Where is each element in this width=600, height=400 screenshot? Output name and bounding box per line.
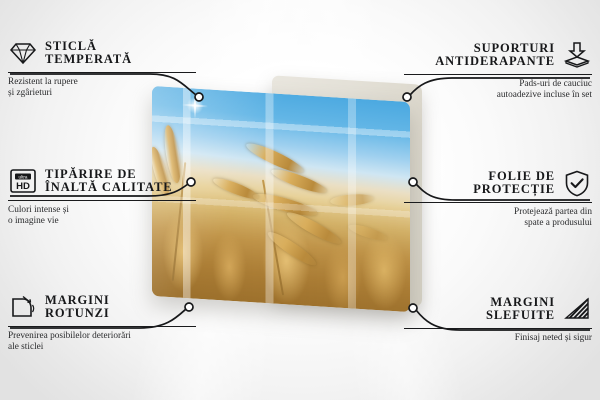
feature-title: SUPORTURI ANTIDERAPANTE [435, 42, 555, 69]
feature-sub-line1: Pads-uri de cauciuc [519, 79, 592, 89]
feature-title-line1: MARGINI [45, 293, 110, 307]
feature-sub-line2: autoadezive incluse în set [497, 90, 592, 100]
feature-subtitle: Protejează partea din spate a produsului [404, 207, 592, 230]
feature-title-line2: PROTECȚIE [473, 182, 555, 196]
feature-title-line2: ANTIDERAPANTE [435, 54, 555, 68]
feature-title: FOLIE DE PROTECȚIE [473, 170, 555, 197]
feature-header: ultra HD TIPĂRIRE DE ÎNALTĂ CALITATE [8, 166, 196, 196]
feature-subtitle: Prevenirea posibilelor deteriorări ale s… [8, 331, 196, 354]
divider-rule [8, 200, 196, 201]
feature-subtitle: Finisaj neted și sigur [404, 333, 592, 344]
divider-rule [8, 326, 196, 327]
hatched-bevel-icon [562, 294, 592, 324]
feature-sub-line1: Prevenirea posibilelor deteriorări [8, 331, 131, 341]
feature-title-line1: SUPORTURI [474, 41, 555, 55]
ultra-label: ultra [19, 174, 28, 179]
feature-title: TIPĂRIRE DE ÎNALTĂ CALITATE [45, 168, 173, 195]
divider-rule [404, 74, 592, 75]
feature-header: STICLĂ TEMPERATĂ [8, 38, 196, 68]
feature-title-line2: ÎNALTĂ CALITATE [45, 180, 173, 194]
feature-title-line1: TIPĂRIRE DE [45, 167, 137, 181]
feature-protective-film: FOLIE DE PROTECȚIE Protejează partea din… [404, 168, 592, 230]
infographic-canvas: STICLĂ TEMPERATĂ Rezistent la rupere și … [0, 0, 600, 400]
feature-header: MARGINI ROTUNZI [8, 292, 196, 322]
feature-sub-line1: Finisaj neted și sigur [515, 333, 592, 343]
ultra-hd-icon: ultra HD [8, 166, 38, 196]
feature-polished-edges: MARGINI SLEFUITE Finisaj neted și sigur [404, 294, 592, 344]
feature-sub-line1: Protejează partea din [514, 207, 592, 217]
feature-title-line2: TEMPERATĂ [45, 52, 132, 66]
feature-title-line1: FOLIE DE [488, 169, 555, 183]
feature-sub-line2: spate a produsului [524, 218, 592, 228]
press-pad-icon [562, 40, 592, 70]
feature-title-line2: SLEFUITE [486, 308, 555, 322]
feature-subtitle: Rezistent la rupere și zgârieturi [8, 77, 196, 100]
feature-sub-line2: și zgârieturi [8, 88, 52, 98]
divider-rule [8, 72, 196, 73]
feature-title-line1: STICLĂ [45, 39, 97, 53]
divider-rule [404, 328, 592, 329]
feature-sub-line2: o imagine vie [8, 216, 59, 226]
feature-header: SUPORTURI ANTIDERAPANTE [404, 40, 592, 70]
shield-check-icon [562, 168, 592, 198]
feature-subtitle: Pads-uri de cauciuc autoadezive incluse … [404, 79, 592, 102]
rounded-corner-icon [8, 292, 38, 322]
feature-header: FOLIE DE PROTECȚIE [404, 168, 592, 198]
feature-title: STICLĂ TEMPERATĂ [45, 40, 132, 67]
feature-anti-slip-supports: SUPORTURI ANTIDERAPANTE Pads-uri de cauc… [404, 40, 592, 102]
feature-tempered-glass: STICLĂ TEMPERATĂ Rezistent la rupere și … [8, 38, 196, 100]
feature-title: MARGINI SLEFUITE [486, 296, 555, 323]
feature-sub-line1: Culori intense și [8, 205, 69, 215]
feature-high-quality-print: ultra HD TIPĂRIRE DE ÎNALTĂ CALITATE Cul… [8, 166, 196, 228]
diamond-icon [8, 38, 38, 68]
feature-subtitle: Culori intense și o imagine vie [8, 205, 196, 228]
divider-rule [404, 202, 592, 203]
feature-rounded-edges: MARGINI ROTUNZI Prevenirea posibilelor d… [8, 292, 196, 354]
hd-label: HD [16, 181, 30, 192]
feature-title-line2: ROTUNZI [45, 306, 110, 320]
feature-title-line1: MARGINI [490, 295, 555, 309]
feature-title: MARGINI ROTUNZI [45, 294, 110, 321]
feature-header: MARGINI SLEFUITE [404, 294, 592, 324]
feature-sub-line2: ale sticlei [8, 342, 43, 352]
feature-sub-line1: Rezistent la rupere [8, 77, 78, 87]
